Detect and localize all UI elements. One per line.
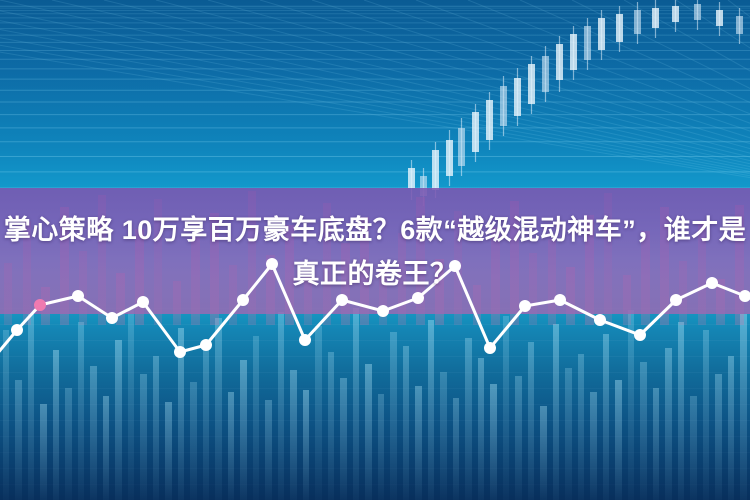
- trend-line-chart: [0, 0, 750, 500]
- data-point-marker: [412, 292, 424, 304]
- data-point-marker: [519, 300, 531, 312]
- data-point-marker: [739, 290, 750, 302]
- data-point-marker: [34, 299, 46, 311]
- data-point-marker: [484, 342, 496, 354]
- data-point-marker: [554, 294, 566, 306]
- data-point-marker: [634, 329, 646, 341]
- data-point-marker: [237, 294, 249, 306]
- data-point-marker: [706, 277, 718, 289]
- data-point-marker: [377, 305, 389, 317]
- data-point-marker: [137, 296, 149, 308]
- data-point-marker: [106, 312, 118, 324]
- data-point-marker: [200, 339, 212, 351]
- data-point-marker: [266, 258, 278, 270]
- data-point-marker: [11, 324, 23, 336]
- data-point-marker: [670, 294, 682, 306]
- data-point-marker: [336, 294, 348, 306]
- banner-image: 掌心策略 10万享百万豪车底盘？6款“越级混动神车”，谁才是 真正的卷王？: [0, 0, 750, 500]
- data-point-marker: [72, 290, 84, 302]
- data-point-marker: [449, 260, 461, 272]
- data-point-marker: [299, 334, 311, 346]
- data-point-marker: [594, 314, 606, 326]
- data-point-marker: [174, 346, 186, 358]
